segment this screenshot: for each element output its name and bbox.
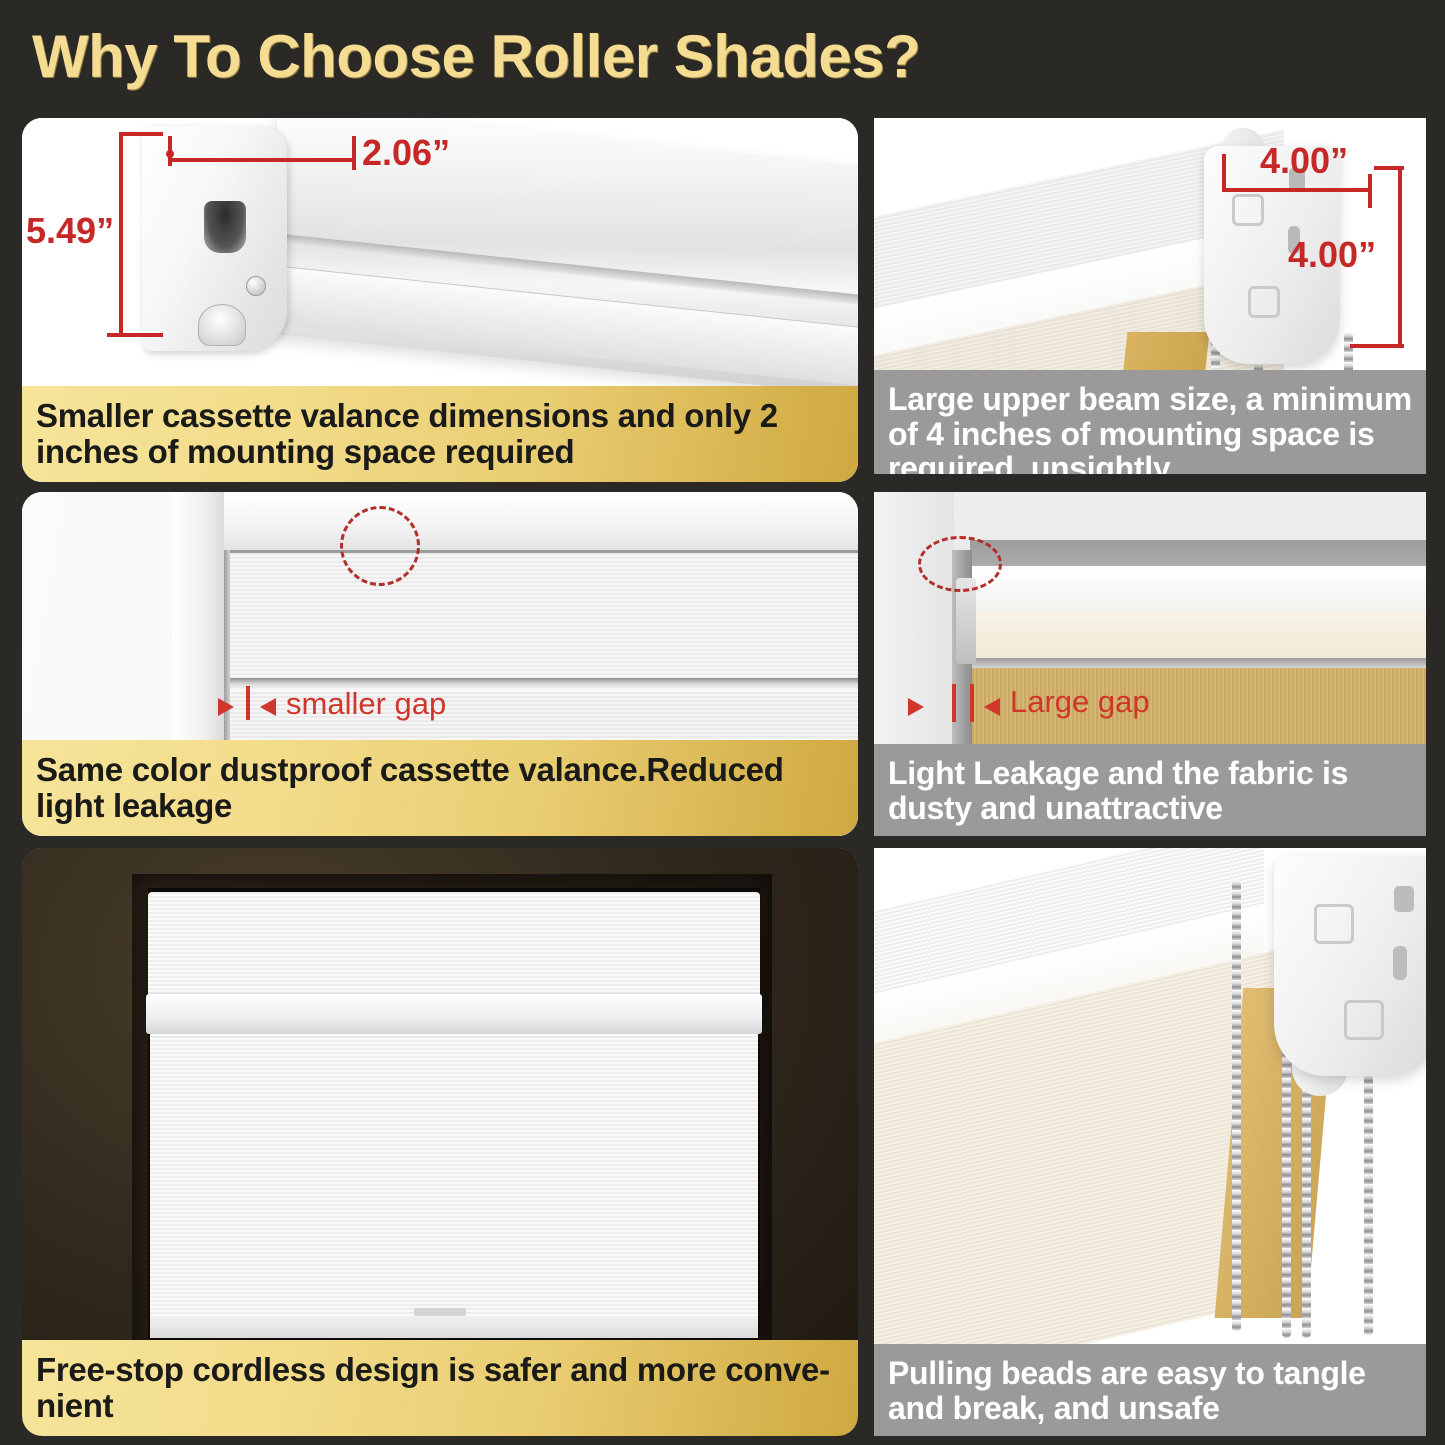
panel-5-caption-text: Free-stop cordless design is safer and m… [36, 1352, 844, 1423]
panel-2-caption-text: Large upper beam size, a minimum of 4 in… [888, 382, 1412, 474]
smaller-gap-label: smaller gap [286, 686, 446, 722]
height-dim-line [119, 132, 123, 337]
panel-5-caption: Free-stop cordless design is safer and m… [22, 1340, 858, 1436]
gap-marker [246, 686, 250, 720]
width-dim-tick-left [168, 136, 172, 166]
panel-6-caption: Pulling beads are easy to tangle and bre… [874, 1344, 1426, 1436]
panel-4-caption: Light Leakage and the fabric is dusty an… [874, 744, 1426, 836]
beam-width-tick-right [1368, 174, 1372, 208]
panel-6-caption-text: Pulling beads are easy to tangle and bre… [888, 1356, 1412, 1425]
beam-width-dim-line [1222, 188, 1372, 192]
height-dim-tick-bottom [107, 333, 163, 337]
panel-light-leakage: Large gap Light Leakage and the fabric i… [874, 492, 1426, 836]
beam-height-dim-line [1398, 166, 1402, 348]
large-gap-label: Large gap [1010, 684, 1150, 720]
bead-chain-icon [1364, 1074, 1373, 1336]
panel-dustproof-valance: smaller gap Same color dustproof cassett… [22, 492, 858, 836]
width-dimension-label: 2.06” [362, 132, 450, 174]
panel-1-caption-text: Smaller cassette valance dimensions and … [36, 398, 844, 469]
panel-pulling-beads: Pulling beads are easy to tangle and bre… [874, 848, 1426, 1436]
beam-height-tick-bottom [1350, 344, 1404, 348]
height-dimension-label: 5.49” [26, 210, 114, 252]
beam-height-tick-top [1374, 166, 1404, 170]
bead-chain-icon [1232, 880, 1241, 1332]
comparison-grid: 2.06” 5.49” Smaller cassette valance dim… [0, 110, 1445, 1445]
gap-arrow-right-icon [908, 698, 924, 716]
panel-3-caption: Same color dustproof cassette valance.Re… [22, 740, 858, 836]
gap-marker [970, 684, 974, 722]
width-dim-tick-right [352, 136, 356, 170]
beam-width-label: 4.00” [1260, 140, 1348, 182]
panel-2-caption: Large upper beam size, a minimum of 4 in… [874, 370, 1426, 474]
panel-1-caption: Smaller cassette valance dimensions and … [22, 386, 858, 482]
panel-large-upper-beam: 4.00” 4.00” Large upper beam size, a min… [874, 118, 1426, 474]
knob-icon [198, 304, 246, 346]
valance-slot-icon [204, 201, 246, 253]
screw-icon [246, 276, 266, 296]
panel-cordless-design: Free-stop cordless design is safer and m… [22, 848, 858, 1436]
panel-smaller-cassette: 2.06” 5.49” Smaller cassette valance dim… [22, 118, 858, 482]
panel-3-caption-text: Same color dustproof cassette valance.Re… [36, 752, 844, 823]
highlight-circle-icon [340, 506, 420, 586]
panel-4-caption-text: Light Leakage and the fabric is dusty an… [888, 756, 1412, 825]
gap-marker [952, 684, 956, 722]
brand-logo [414, 1308, 466, 1316]
highlight-circle-icon [918, 536, 1002, 592]
gap-arrow-left-icon [984, 698, 1000, 716]
gap-arrow-right-icon [218, 698, 234, 716]
height-dim-tick-top [119, 132, 163, 136]
bracket-symbol-icon [1344, 1000, 1384, 1040]
page-title: Why To Choose Roller Shades? [32, 22, 920, 91]
beam-height-label: 4.00” [1288, 234, 1376, 276]
beam-width-tick-left [1222, 154, 1226, 192]
gap-arrow-left-icon [260, 698, 276, 716]
width-dim-line [168, 158, 356, 162]
infographic-root: Why To Choose Roller Shades? 2.06” [0, 0, 1445, 1445]
bracket-symbol-icon [1314, 904, 1354, 944]
